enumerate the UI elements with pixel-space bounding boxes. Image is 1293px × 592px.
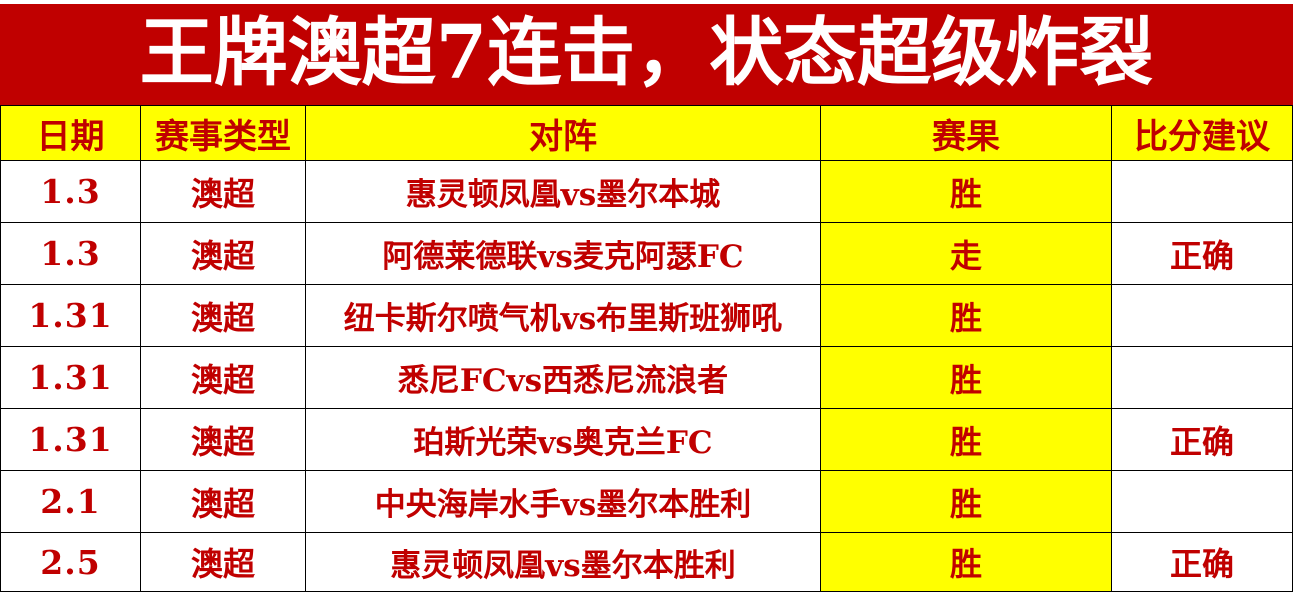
cell-result: 胜: [821, 161, 1112, 223]
table-row: 1.3 澳超 惠灵顿凤凰vs墨尔本城 胜: [1, 161, 1293, 223]
cell-type: 澳超: [141, 409, 306, 471]
table-row: 1.3 澳超 阿德莱德联vs麦克阿瑟FC 走 正确: [1, 223, 1293, 285]
table-row: 1.31 澳超 悉尼FCvs西悉尼流浪者 胜: [1, 347, 1293, 409]
page-root: 王牌澳超7连击，状态超级炸裂 日期 赛事类型 对阵 赛果 比分建议 1.3 澳超…: [0, 0, 1293, 588]
cell-date: 1.3: [1, 161, 141, 223]
banner-title: 王牌澳超7连击，状态超级炸裂: [140, 16, 1154, 90]
column-header-result: 赛果: [821, 106, 1112, 161]
cell-score: [1112, 161, 1293, 223]
cell-date: 2.5: [1, 533, 141, 592]
cell-match: 悉尼FCvs西悉尼流浪者: [306, 347, 821, 409]
cell-score: 正确: [1112, 533, 1293, 592]
cell-score: [1112, 285, 1293, 347]
cell-match: 中央海岸水手vs墨尔本胜利: [306, 471, 821, 533]
cell-match: 珀斯光荣vs奥克兰FC: [306, 409, 821, 471]
table-body: 1.3 澳超 惠灵顿凤凰vs墨尔本城 胜 1.3 澳超 阿德莱德联vs麦克阿瑟F…: [1, 161, 1293, 592]
cell-date: 1.3: [1, 223, 141, 285]
cell-match: 纽卡斯尔喷气机vs布里斯班狮吼: [306, 285, 821, 347]
cell-type: 澳超: [141, 223, 306, 285]
column-header-match: 对阵: [306, 106, 821, 161]
cell-date: 1.31: [1, 409, 141, 471]
table-row: 1.31 澳超 珀斯光荣vs奥克兰FC 胜 正确: [1, 409, 1293, 471]
column-header-score: 比分建议: [1112, 106, 1293, 161]
cell-match: 惠灵顿凤凰vs墨尔本胜利: [306, 533, 821, 592]
cell-match: 阿德莱德联vs麦克阿瑟FC: [306, 223, 821, 285]
cell-type: 澳超: [141, 285, 306, 347]
column-header-type: 赛事类型: [141, 106, 306, 161]
cell-result: 胜: [821, 347, 1112, 409]
banner: 王牌澳超7连击，状态超级炸裂: [0, 4, 1293, 105]
column-header-date: 日期: [1, 106, 141, 161]
cell-result: 胜: [821, 409, 1112, 471]
cell-result: 胜: [821, 533, 1112, 592]
cell-result: 走: [821, 223, 1112, 285]
cell-type: 澳超: [141, 533, 306, 592]
cell-score: 正确: [1112, 223, 1293, 285]
cell-date: 1.31: [1, 347, 141, 409]
cell-result: 胜: [821, 285, 1112, 347]
cell-date: 2.1: [1, 471, 141, 533]
prediction-table: 日期 赛事类型 对阵 赛果 比分建议 1.3 澳超 惠灵顿凤凰vs墨尔本城 胜 …: [0, 105, 1293, 592]
cell-date: 1.31: [1, 285, 141, 347]
cell-match: 惠灵顿凤凰vs墨尔本城: [306, 161, 821, 223]
cell-type: 澳超: [141, 471, 306, 533]
cell-type: 澳超: [141, 161, 306, 223]
table-row: 2.1 澳超 中央海岸水手vs墨尔本胜利 胜: [1, 471, 1293, 533]
cell-score: [1112, 471, 1293, 533]
table-row: 1.31 澳超 纽卡斯尔喷气机vs布里斯班狮吼 胜: [1, 285, 1293, 347]
cell-score: [1112, 347, 1293, 409]
table-head: 日期 赛事类型 对阵 赛果 比分建议: [1, 106, 1293, 161]
cell-score: 正确: [1112, 409, 1293, 471]
table-row: 2.5 澳超 惠灵顿凤凰vs墨尔本胜利 胜 正确: [1, 533, 1293, 592]
table-header-row: 日期 赛事类型 对阵 赛果 比分建议: [1, 106, 1293, 161]
cell-type: 澳超: [141, 347, 306, 409]
cell-result: 胜: [821, 471, 1112, 533]
